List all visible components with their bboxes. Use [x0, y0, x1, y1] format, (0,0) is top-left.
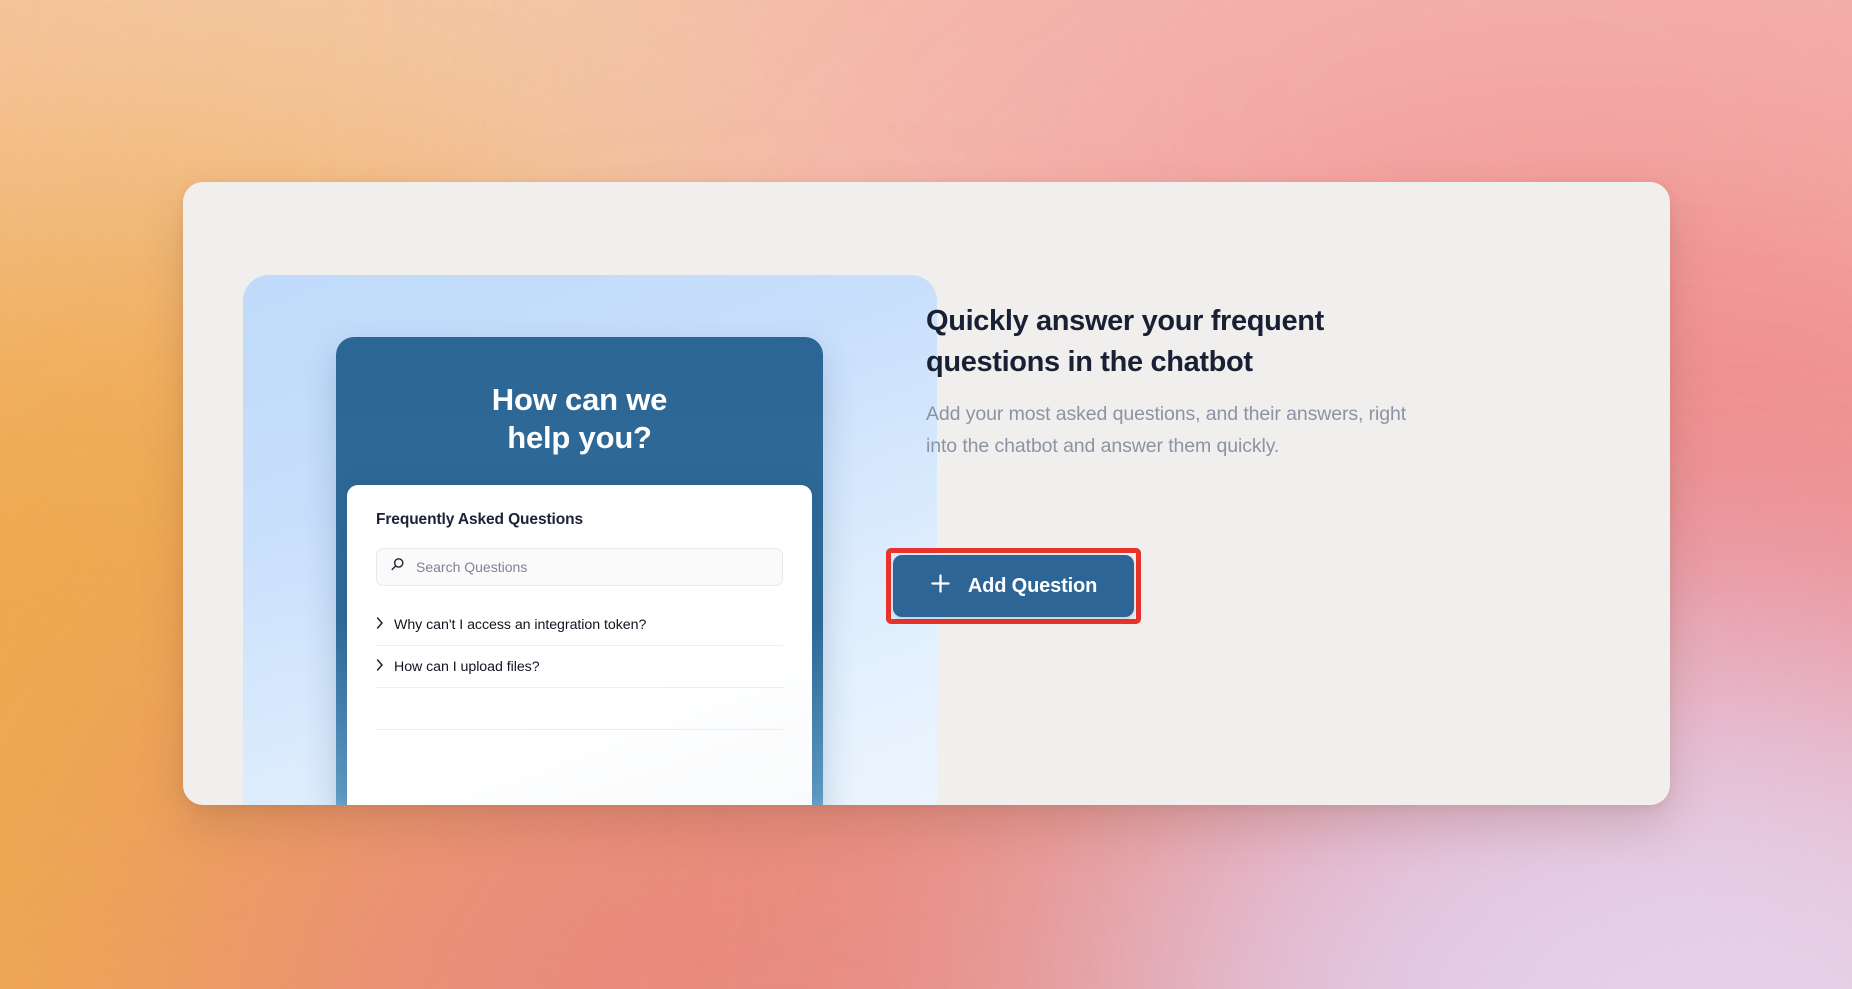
chat-widget-title-line-1: How can we — [492, 382, 667, 417]
chatbot-preview-illustration: How can we help you? Frequently Asked Qu… — [243, 275, 937, 805]
chat-widget-title-line-2: help you? — [507, 420, 652, 455]
chevron-right-icon — [376, 616, 394, 634]
faq-question-list: Why can't I access an integration token?… — [376, 604, 783, 730]
chevron-right-icon — [376, 658, 394, 676]
faq-question-item[interactable]: How can I upload files? — [376, 646, 783, 688]
add-question-button[interactable]: Add Question — [893, 555, 1134, 617]
faq-search-input[interactable]: Search Questions — [376, 548, 783, 586]
plus-icon — [930, 573, 951, 600]
chat-widget-preview: How can we help you? Frequently Asked Qu… — [336, 337, 823, 805]
chat-widget-header: How can we help you? — [336, 337, 823, 457]
desktop-wallpaper: How can we help you? Frequently Asked Qu… — [0, 0, 1852, 989]
faq-panel: Frequently Asked Questions Search Questi… — [347, 485, 812, 805]
page-description: Add your most asked questions, and their… — [926, 399, 1426, 461]
add-question-label: Add Question — [968, 575, 1097, 598]
add-question-highlight-box: Add Question — [886, 548, 1141, 624]
feature-content: Quickly answer your frequent questions i… — [926, 301, 1456, 462]
chat-widget-title: How can we help you? — [336, 381, 823, 457]
search-icon — [390, 557, 405, 577]
faq-question-label: How can I upload files? — [394, 659, 540, 675]
faq-panel-heading: Frequently Asked Questions — [376, 511, 812, 529]
page-title: Quickly answer your frequent questions i… — [926, 301, 1396, 383]
faq-question-item-partial[interactable] — [376, 688, 783, 730]
faq-question-item[interactable]: Why can't I access an integration token? — [376, 604, 783, 646]
feature-card: How can we help you? Frequently Asked Qu… — [183, 182, 1670, 805]
faq-search-placeholder: Search Questions — [416, 559, 527, 575]
faq-question-label: Why can't I access an integration token? — [394, 617, 646, 633]
